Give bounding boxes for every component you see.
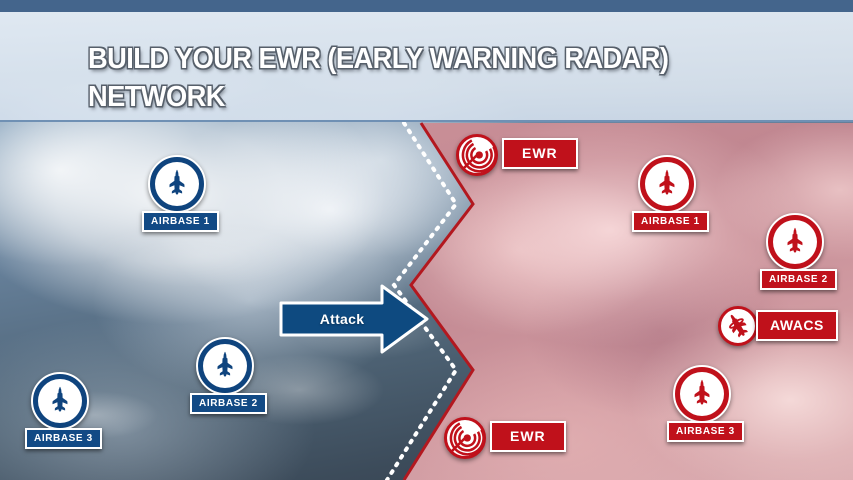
airbase-inner-circle (203, 344, 247, 388)
airbase-disc (196, 337, 254, 395)
page-title: BUILD YOUR EWR (EARLY WARNING RADAR) NET… (88, 40, 690, 117)
ewr-label: EWR (502, 138, 578, 169)
airbase-label: AIRBASE 1 (632, 211, 709, 232)
airbase-inner-circle (38, 379, 82, 423)
fighter-jet-icon (45, 386, 75, 416)
airbase-node[interactable]: AIRBASE 3 (31, 372, 89, 430)
slide-canvas: BUILD YOUR EWR (EARLY WARNING RADAR) NET… (0, 0, 853, 480)
attack-arrow[interactable]: Attack (278, 283, 430, 355)
airbase-inner-circle (680, 372, 724, 416)
top-accent-bar (0, 0, 853, 12)
airbase-node[interactable]: AIRBASE 3 (673, 365, 731, 423)
airbase-label: AIRBASE 3 (25, 428, 102, 449)
ewr-label: EWR (490, 421, 566, 452)
airbase-disc (148, 155, 206, 213)
airbase-label: AIRBASE 2 (190, 393, 267, 414)
airbase-inner-circle (645, 162, 689, 206)
airbase-disc (673, 365, 731, 423)
ewr-disc (444, 417, 486, 459)
awacs-label: AWACS (756, 310, 838, 341)
right-arrow-icon (278, 283, 430, 355)
ewr-disc (456, 134, 498, 176)
airbase-node[interactable]: AIRBASE 1 (638, 155, 696, 213)
radar-icon (447, 420, 483, 456)
airbase-disc (31, 372, 89, 430)
header-band: BUILD YOUR EWR (EARLY WARNING RADAR) NET… (0, 12, 853, 122)
airbase-label: AIRBASE 3 (667, 421, 744, 442)
fighter-jet-icon (780, 227, 810, 257)
airbase-node[interactable]: AIRBASE 1 (148, 155, 206, 213)
airbase-inner-circle (773, 220, 817, 264)
awacs-disc (718, 306, 758, 346)
ewr-node[interactable]: EWR (456, 134, 498, 176)
awacs-plane-icon (722, 310, 754, 342)
fighter-jet-icon (652, 169, 682, 199)
airbase-disc (638, 155, 696, 213)
airbase-node[interactable]: AIRBASE 2 (196, 337, 254, 395)
airbase-label: AIRBASE 2 (760, 269, 837, 290)
awacs-node[interactable]: AWACS (718, 306, 758, 346)
airbase-disc (766, 213, 824, 271)
fighter-jet-icon (210, 351, 240, 381)
fighter-jet-icon (687, 379, 717, 409)
ewr-node[interactable]: EWR (444, 417, 486, 459)
airbase-inner-circle (155, 162, 199, 206)
radar-icon (459, 137, 495, 173)
airbase-label: AIRBASE 1 (142, 211, 219, 232)
fighter-jet-icon (162, 169, 192, 199)
airbase-node[interactable]: AIRBASE 2 (766, 213, 824, 271)
